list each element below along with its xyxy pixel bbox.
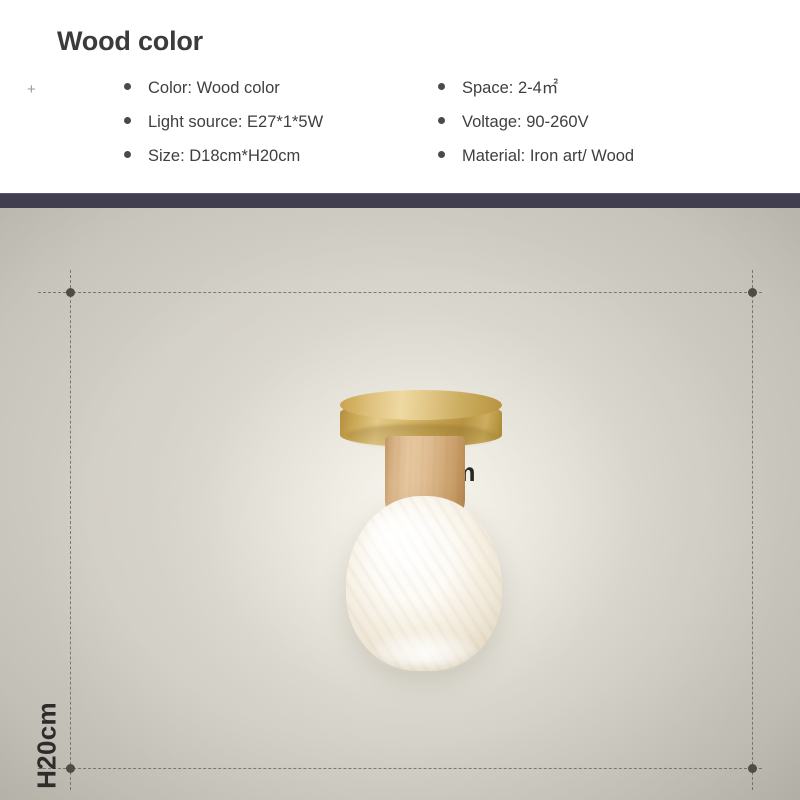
specification-panel: Wood color + Color: Wood color Light sou… xyxy=(0,0,800,193)
product-photo: D18cm H20cm ASCELINA xyxy=(0,208,800,800)
canopy-body xyxy=(340,401,502,447)
section-divider xyxy=(0,193,800,208)
bullet-icon xyxy=(438,117,445,124)
ceiling-lamp-product xyxy=(0,208,800,800)
dimension-guide-top xyxy=(38,292,762,293)
canopy-top-face xyxy=(340,390,502,420)
dimension-marker-top-left xyxy=(66,288,75,297)
brass-canopy-plate xyxy=(340,390,502,452)
list-item: Material: Iron art/ Wood xyxy=(438,148,634,182)
bullet-icon xyxy=(124,151,131,158)
spec-label: Size: D18cm*H20cm xyxy=(148,148,300,165)
bullet-icon xyxy=(438,83,445,90)
globe-highlight xyxy=(366,512,436,574)
canopy-shadow xyxy=(346,424,496,448)
glass-globe-shade xyxy=(346,496,502,671)
bullet-icon xyxy=(124,83,131,90)
bullet-icon xyxy=(438,151,445,158)
dimension-guide-right xyxy=(752,270,753,790)
dimension-marker-top-right xyxy=(748,288,757,297)
product-spec-image: Wood color + Color: Wood color Light sou… xyxy=(0,0,800,800)
spec-label: Color: Wood color xyxy=(148,80,280,97)
spec-label: Voltage: 90-260V xyxy=(462,114,589,131)
spec-list-right: Space: 2-4㎡ Voltage: 90-260V Material: I… xyxy=(438,80,634,182)
list-item: Color: Wood color xyxy=(124,80,323,114)
list-item: Voltage: 90-260V xyxy=(438,114,634,148)
globe-rib-texture xyxy=(346,496,502,671)
plus-icon: + xyxy=(27,82,36,97)
list-item: Space: 2-4㎡ xyxy=(438,80,634,114)
spec-list-left: Color: Wood color Light source: E27*1*5W… xyxy=(124,80,323,182)
page-title: Wood color xyxy=(57,26,203,57)
dimension-guide-bottom xyxy=(38,768,762,769)
list-item: Light source: E27*1*5W xyxy=(124,114,323,148)
photo-vignette xyxy=(0,208,800,800)
wood-bottom-edge xyxy=(385,506,465,520)
width-dimension-label: D18cm xyxy=(389,457,476,488)
spec-label: Space: 2-4㎡ xyxy=(462,80,558,97)
dimension-marker-bottom-left xyxy=(66,764,75,773)
bullet-icon xyxy=(124,117,131,124)
spec-label: Material: Iron art/ Wood xyxy=(462,148,634,165)
dimension-guide-left xyxy=(70,270,71,790)
spec-label: Light source: E27*1*5W xyxy=(148,114,323,131)
dimension-marker-bottom-right xyxy=(748,764,757,773)
height-dimension-label: H20cm xyxy=(32,686,63,800)
globe-bottom-glow xyxy=(374,633,474,667)
list-item: Size: D18cm*H20cm xyxy=(124,148,323,182)
